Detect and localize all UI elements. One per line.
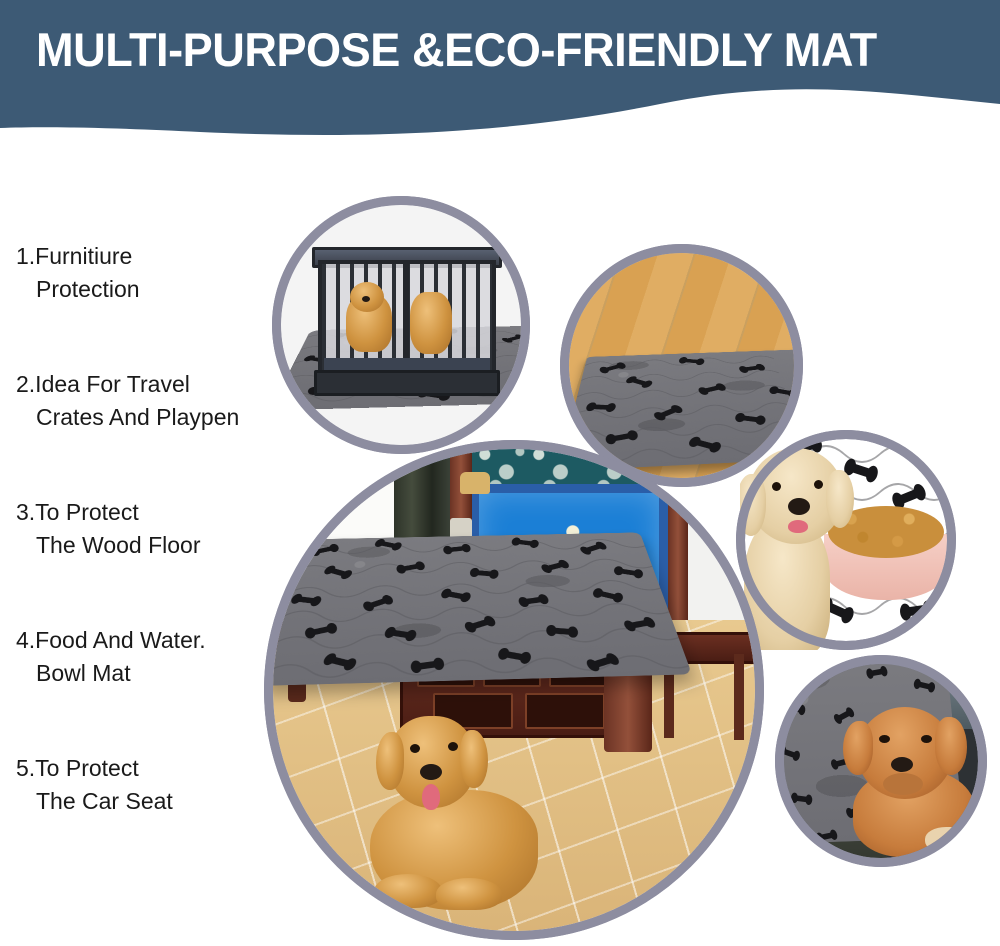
- living-room-scene: [264, 440, 764, 940]
- food-dog-ear-right: [826, 470, 854, 528]
- feature-item-3: 3.To Protect The Wood Floor: [0, 496, 280, 562]
- lr-dog-eye-right: [448, 742, 458, 751]
- console-leg-right: [734, 654, 744, 740]
- feature-1-line1: 1.Furnitiure: [0, 240, 280, 273]
- header-banner: MULTI-PURPOSE &ECO-FRIENDLY MAT: [0, 0, 1000, 140]
- feature-3-line2: The Wood Floor: [0, 529, 280, 562]
- feature-5-line1: 5.To Protect: [0, 752, 280, 785]
- living-room-mat-surface: [264, 532, 692, 685]
- crate-dog-second: [410, 292, 452, 354]
- lr-dog-ear-left: [376, 732, 404, 790]
- lr-dog-paw-left: [374, 874, 442, 908]
- car-seat-scene: [775, 655, 987, 867]
- lr-dog-paw-right: [436, 878, 502, 910]
- food-dog-eye-left: [772, 482, 781, 491]
- puppy-ear-left: [843, 721, 873, 775]
- feature-item-2: 2.Idea For Travel Crates And Playpen: [0, 368, 280, 434]
- feature-2-line1: 2.Idea For Travel: [0, 368, 280, 401]
- bubble-car-seat: [775, 655, 987, 867]
- crate-scene: [272, 196, 530, 454]
- bubble-living-room: [264, 440, 764, 940]
- feature-3-line1: 3.To Protect: [0, 496, 280, 529]
- feature-4-line1: 4.Food And Water.: [0, 624, 280, 657]
- food-bowl-dog: [740, 440, 870, 650]
- feature-list: 1.Furnitiure Protection 2.Idea For Trave…: [0, 240, 280, 880]
- feature-4-line2: Bowl Mat: [0, 657, 280, 690]
- lr-dog-nose: [420, 764, 442, 780]
- crate-dog-nose: [362, 296, 370, 302]
- feature-5-line2: The Car Seat: [0, 785, 280, 818]
- feature-item-1: 1.Furnitiure Protection: [0, 240, 280, 306]
- puppy-paws: [925, 827, 971, 853]
- feature-item-4: 4.Food And Water. Bowl Mat: [0, 624, 280, 690]
- page-title: MULTI-PURPOSE &ECO-FRIENDLY MAT: [36, 22, 948, 78]
- food-dog-nose: [788, 498, 810, 515]
- dog-crate: [318, 260, 496, 380]
- feature-item-5: 5.To Protect The Car Seat: [0, 752, 280, 818]
- bubble-crate: [272, 196, 530, 454]
- feature-1-line2: Protection: [0, 273, 280, 306]
- puppy-eye-right: [921, 735, 932, 743]
- puppy-ear-right: [935, 717, 967, 775]
- living-room-bone-pattern: [264, 532, 692, 685]
- living-room-dog: [360, 698, 550, 928]
- puppy-muzzle: [883, 773, 923, 795]
- crate-base: [314, 370, 500, 396]
- lr-dog-ear-right: [460, 730, 488, 788]
- feature-2-line2: Crates And Playpen: [0, 401, 280, 434]
- puppy-nose: [891, 757, 913, 772]
- puppy-eye-left: [879, 735, 890, 743]
- food-dog-eye-right: [814, 480, 823, 489]
- lr-dog-tongue: [422, 784, 440, 810]
- lr-dog-eye-left: [410, 744, 420, 753]
- chandelier-shade: [460, 472, 490, 494]
- food-dog-tongue: [788, 520, 808, 533]
